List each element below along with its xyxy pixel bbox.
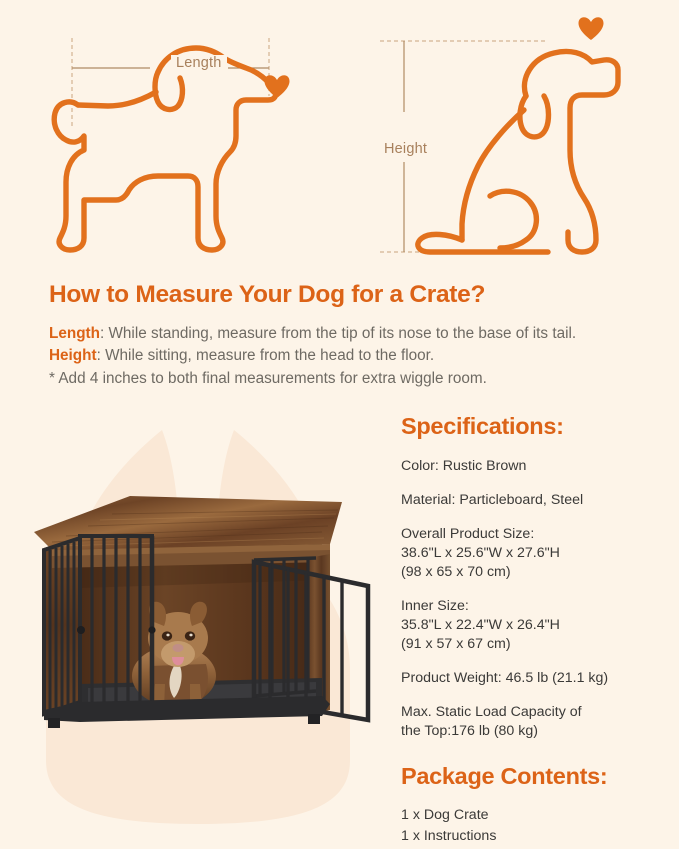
wiggle-room-note: * Add 4 inches to both final measurement… [49, 370, 487, 387]
height-measure-label: Height [380, 139, 431, 159]
length-diagram: Length [30, 0, 350, 272]
how-to-measure-section: How to Measure Your Dog for a Crate? Len… [49, 282, 649, 390]
length-measure-label: Length [171, 55, 227, 71]
specifications-column: Specifications: Color: Rustic Brown Mate… [401, 413, 669, 846]
lower-section: Specifications: Color: Rustic Brown Mate… [0, 395, 679, 849]
how-to-measure-title: How to Measure Your Dog for a Crate? [49, 282, 649, 309]
how-to-measure-line: Length: While standing, measure from the… [49, 323, 649, 345]
dog-standing-outline-icon [30, 0, 350, 272]
heart-icon [265, 75, 290, 98]
crate-left-bars [44, 538, 80, 714]
heart-icon [579, 17, 604, 40]
package-item-instructions: 1 x Instructions [401, 826, 669, 846]
spec-inner-size: Inner Size: 35.8"L x 22.4"W x 26.4"H (91… [401, 597, 669, 654]
specifications-heading: Specifications: [401, 413, 669, 440]
length-keyword: Length [49, 325, 100, 342]
spec-load-capacity: Max. Static Load Capacity of the Top:176… [401, 703, 669, 741]
measurement-diagrams: Length [0, 0, 679, 272]
package-item-crate: 1 x Dog Crate [401, 805, 669, 825]
height-description: : While sitting, measure from the head t… [97, 347, 435, 364]
height-keyword: Height [49, 347, 97, 364]
package-contents-list: 1 x Dog Crate 1 x Instructions [401, 805, 669, 845]
spec-color: Color: Rustic Brown [401, 457, 669, 476]
dog-sitting-outline-icon [368, 0, 668, 272]
spec-overall-size: Overall Product Size: 38.6"L x 25.6"W x … [401, 525, 669, 582]
height-diagram: Height [368, 0, 668, 272]
how-to-measure-line: Height: While sitting, measure from the … [49, 345, 649, 367]
spec-product-weight: Product Weight: 46.5 lb (21.1 kg) [401, 669, 669, 688]
spec-material: Material: Particleboard, Steel [401, 491, 669, 510]
how-to-measure-note: * Add 4 inches to both final measurement… [49, 368, 649, 390]
length-description: : While standing, measure from the tip o… [100, 325, 576, 342]
specifications-list: Color: Rustic Brown Material: Particlebo… [401, 457, 669, 741]
dog-crate-product-photo [22, 470, 382, 740]
package-contents-heading: Package Contents: [401, 763, 669, 790]
